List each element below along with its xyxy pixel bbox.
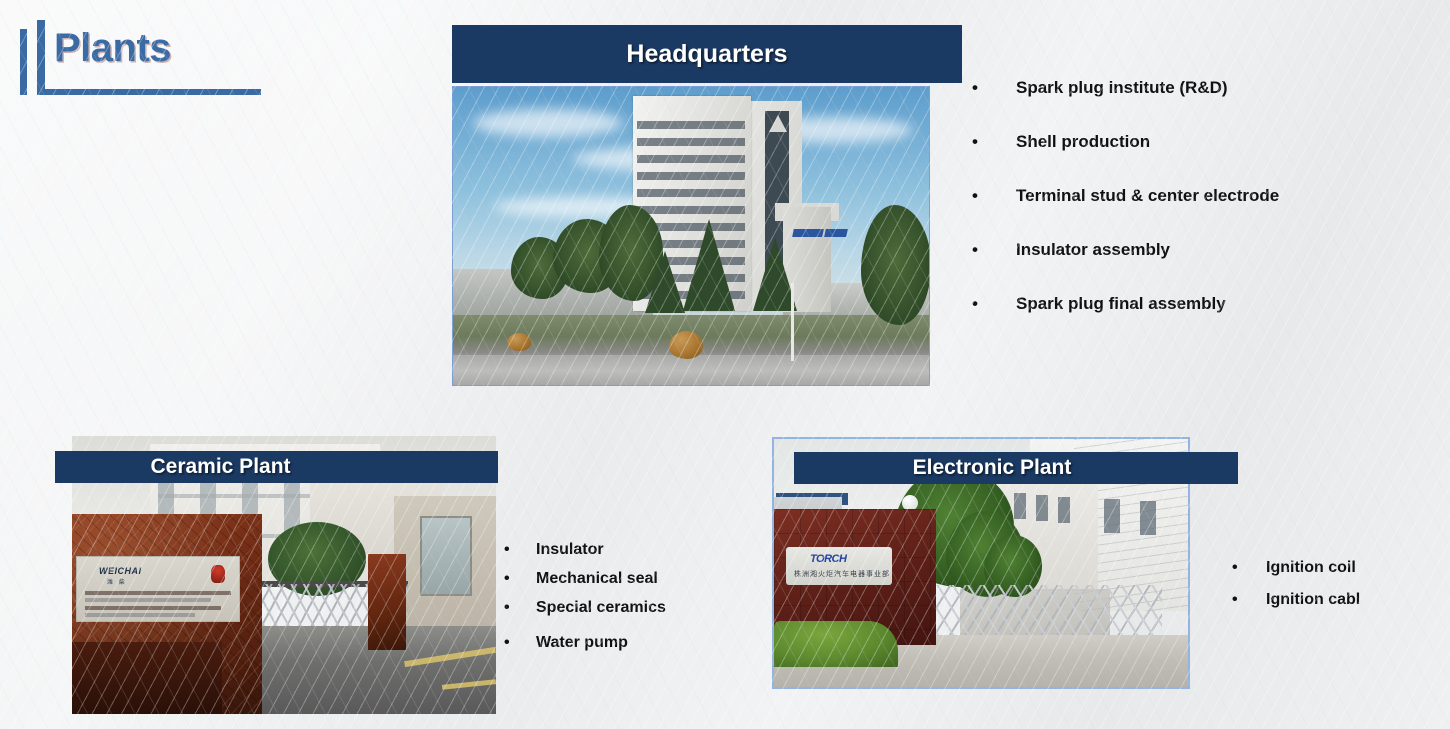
- list-item: • Insulator assembly: [972, 240, 1442, 260]
- window: [1058, 497, 1070, 523]
- wall-right: [368, 554, 406, 650]
- list-item: • Ignition cabl: [1232, 591, 1450, 609]
- list-item-label: Terminal stud & center electrode: [1016, 186, 1279, 206]
- bullet-icon: •: [1232, 559, 1266, 577]
- window: [1036, 495, 1048, 521]
- list-item: • Terminal stud & center electrode: [972, 186, 1442, 206]
- rock: [507, 333, 531, 351]
- company-sign-plate: WEICHAI 潍 柴: [76, 556, 240, 622]
- list-item-label: Spark plug final assembly: [1016, 294, 1226, 314]
- ceramic-plant-banner-label: Ceramic Plant: [150, 455, 290, 479]
- list-item: • Shell production: [972, 132, 1442, 152]
- ceramic-plant-banner: Ceramic Plant: [55, 451, 498, 483]
- bullet-icon: •: [972, 186, 1016, 206]
- sign-text-line: [85, 598, 211, 602]
- list-item-label: Water pump: [536, 634, 628, 652]
- torch-mark-icon: [211, 565, 225, 583]
- ceramic-plant-bullet-list: • Insulator • Mechanical seal • Special …: [504, 541, 754, 663]
- guard-house-door: [420, 516, 472, 596]
- list-item-label: Ignition coil: [1266, 559, 1356, 577]
- list-item-label: Special ceramics: [536, 599, 666, 617]
- list-item: • Spark plug institute (R&D): [972, 78, 1442, 98]
- headquarters-bullet-list: • Spark plug institute (R&D) • Shell pro…: [972, 78, 1442, 348]
- headquarters-banner-label: Headquarters: [626, 40, 787, 69]
- headquarters-banner: Headquarters: [452, 25, 962, 83]
- tree: [861, 205, 930, 325]
- bullet-icon: •: [972, 78, 1016, 98]
- list-item-label: Mechanical seal: [536, 570, 658, 588]
- list-item-label: Ignition cabl: [1266, 591, 1360, 609]
- window: [1014, 493, 1026, 519]
- title-decoration-bar-right: [37, 20, 45, 95]
- list-item: • Water pump: [504, 634, 754, 652]
- tower-triangle: [769, 115, 787, 132]
- bullet-icon: •: [1232, 591, 1266, 609]
- bullet-icon: •: [972, 294, 1016, 314]
- window: [1140, 501, 1156, 535]
- list-item: • Special ceramics: [504, 599, 754, 617]
- list-item-label: Spark plug institute (R&D): [1016, 78, 1228, 98]
- flag-pole: [791, 283, 794, 361]
- bullet-icon: •: [972, 132, 1016, 152]
- bullet-icon: •: [504, 634, 536, 652]
- sign-text-line: [85, 613, 195, 617]
- title-decoration-bar-left: [20, 29, 27, 95]
- bullet-icon: •: [504, 599, 536, 617]
- hedge: [774, 621, 898, 667]
- torch-logo-icon: [792, 229, 824, 237]
- sign-text-line: [85, 591, 231, 595]
- list-item-label: Shell production: [1016, 132, 1150, 152]
- conifer-tree: [645, 251, 685, 313]
- electronic-plant-banner: Electronic Plant: [794, 452, 1238, 484]
- wall-shadow: [72, 642, 222, 714]
- bullet-icon: •: [972, 240, 1016, 260]
- title-label: Plants: [54, 26, 171, 71]
- list-item: • Insulator: [504, 541, 754, 559]
- road: [453, 355, 930, 386]
- list-item: • Ignition coil: [1232, 559, 1450, 577]
- electronic-plant-bullet-list: • Ignition coil • Ignition cabl: [1232, 559, 1450, 623]
- window: [1104, 499, 1120, 533]
- company-sign-plate: TORCH 株洲湘火炬汽车电器事业部: [786, 547, 892, 585]
- headquarters-photo: [452, 86, 930, 386]
- ground-pavement: [222, 626, 496, 714]
- slide-root: Plants Headquarters: [0, 0, 1450, 729]
- list-item: • Mechanical seal: [504, 570, 754, 588]
- torch-brand-sub-label: 株洲湘火炬汽车电器事业部: [794, 569, 890, 579]
- torch-brand-label: TORCH: [810, 553, 846, 565]
- cloud-icon: [473, 109, 623, 137]
- bullet-icon: •: [504, 541, 536, 559]
- weichai-brand-label: WEICHAI: [99, 566, 142, 576]
- weichai-brand-sub-label: 潍 柴: [107, 577, 127, 586]
- torch-logo-icon: [824, 229, 848, 237]
- title-underline: [37, 89, 261, 95]
- bullet-icon: •: [504, 570, 536, 588]
- page-title: Plants: [16, 14, 276, 98]
- list-item: • Spark plug final assembly: [972, 294, 1442, 314]
- electronic-plant-banner-label: Electronic Plant: [913, 456, 1072, 480]
- conifer-tree: [683, 219, 735, 311]
- list-item-label: Insulator assembly: [1016, 240, 1170, 260]
- list-item-label: Insulator: [536, 541, 604, 559]
- rock: [669, 331, 703, 359]
- sign-text-line: [85, 606, 221, 610]
